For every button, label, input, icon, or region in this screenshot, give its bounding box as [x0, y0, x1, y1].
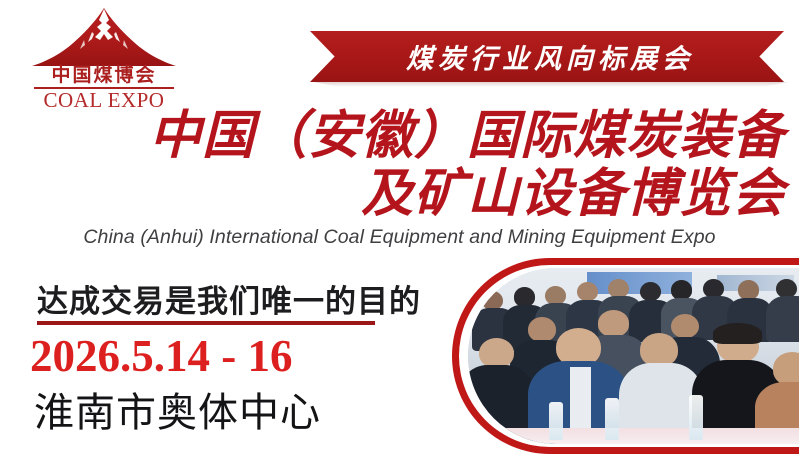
photo-person-head [703, 279, 724, 298]
ribbon-banner: 煤炭行业风向标展会 [310, 31, 784, 82]
conference-audience-photo [468, 268, 799, 444]
photo-person-head [479, 338, 514, 368]
photo-person-head [577, 282, 598, 301]
slogan-underline [37, 321, 375, 325]
photo-water-bottle [549, 402, 563, 441]
photo-table [468, 428, 799, 444]
event-date: 2026.5.14 - 16 [30, 330, 293, 382]
photo-person-head [640, 282, 661, 301]
ribbon-shadow [314, 82, 788, 87]
photo-person-body [766, 296, 799, 342]
logo: 中国煤博会 COAL EXPO [28, 6, 180, 110]
photo-person-head [671, 314, 699, 339]
logo-chinese-name: 中国煤博会 [28, 64, 180, 87]
photo-person-head [773, 352, 799, 385]
photo-person-head [776, 279, 797, 298]
photo-person-head [482, 291, 503, 310]
photo-person-head [545, 286, 566, 305]
photo-person-head [738, 280, 759, 299]
photo-image [468, 268, 799, 444]
photo-person-head [598, 310, 630, 336]
english-subtitle: China (Anhui) International Coal Equipme… [0, 226, 799, 249]
event-venue: 淮南市奥体中心 [34, 380, 321, 438]
ribbon-text: 煤炭行业风向标展会 [400, 37, 694, 76]
slogan-text: 达成交易是我们唯一的目的 [37, 276, 421, 321]
expo-poster: 中国煤博会 COAL EXPO 煤炭行业风向标展会 中国（安徽）国际煤炭装备 及… [0, 0, 799, 464]
photo-person-head [671, 280, 692, 299]
mountain-logo-icon [28, 6, 180, 68]
photo-person-head [514, 287, 535, 306]
title-line-1: 中国（安徽）国际煤炭装备 [0, 108, 799, 164]
photo-person-head [608, 279, 629, 298]
photo-water-bottle [689, 395, 703, 441]
photo-person-head [640, 333, 679, 366]
photo-person-hair [713, 323, 762, 344]
photo-water-bottle [605, 398, 619, 440]
title-line-2: 及矿山设备博览会 [0, 166, 799, 222]
photo-person-head [528, 317, 556, 342]
